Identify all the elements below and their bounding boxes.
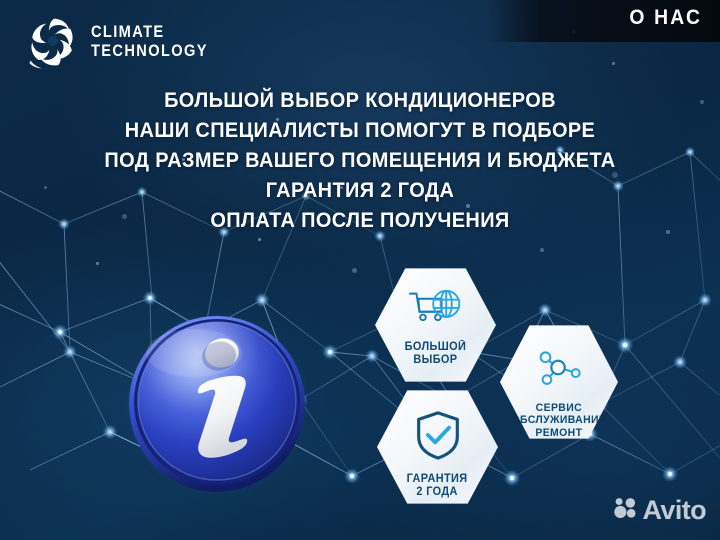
feature-caption-line2: ОБСЛУЖИВАНИЕ — [512, 414, 607, 426]
feature-caption: ГАРАНТИЯ 2 ГОДА — [407, 473, 468, 499]
about-us-promo-slide: CLIMATE TECHNOLOGY О НАС БОЛЬШОЙ ВЫБОР К… — [0, 0, 720, 540]
claim-line: ПОД РАЗМЕР ВАШЕГО ПОМЕЩЕНИЯ И БЮДЖЕТА — [18, 146, 702, 176]
section-title: О НАС — [629, 6, 702, 30]
claim-line: ГАРАНТИЯ 2 ГОДА — [18, 176, 702, 206]
claim-line: ОПЛАТА ПОСЛЕ ПОЛУЧЕНИЯ — [18, 206, 702, 236]
info-circle-icon — [124, 309, 310, 495]
brand-name-line1: CLIMATE — [91, 23, 208, 40]
brand-wordmark: CLIMATE TECHNOLOGY — [91, 23, 227, 59]
brand-name-line2: TECHNOLOGY — [91, 42, 208, 59]
shield-check-icon — [415, 410, 461, 465]
feature-caption-line1: СЕРВИС — [536, 402, 582, 414]
cart-globe-icon — [407, 288, 465, 334]
feature-caption-line2: ВЫБОР — [413, 354, 457, 366]
brand-logo[interactable]: CLIMATE TECHNOLOGY — [26, 12, 227, 70]
claim-line: БОЛЬШОЙ ВЫБОР КОНДИЦИОНЕРОВ — [18, 86, 702, 116]
network-background — [0, 0, 720, 540]
header-bar: CLIMATE TECHNOLOGY О НАС — [0, 0, 720, 44]
fan-spiral-icon — [26, 12, 82, 70]
avito-watermark: Avito — [613, 495, 707, 526]
claims-block: БОЛЬШОЙ ВЫБОР КОНДИЦИОНЕРОВ НАШИ СПЕЦИАЛ… — [0, 86, 720, 236]
feature-caption-line3: РЕМОНТ — [535, 427, 582, 439]
feature-caption: БОЛЬШОЙ ВЫБОР — [405, 341, 467, 367]
feature-caption-line1: БОЛЬШОЙ — [405, 341, 467, 353]
feature-caption-line2: 2 ГОДА — [417, 486, 458, 498]
claim-line: НАШИ СПЕЦИАЛИСТЫ ПОМОГУТ В ПОДБОРЕ — [18, 116, 702, 146]
feature-caption-line1: ГАРАНТИЯ — [407, 473, 468, 485]
avito-wordmark: Avito — [643, 495, 707, 526]
section-title-band: О НАС — [488, 0, 720, 42]
avito-dots-icon — [613, 497, 639, 525]
network-node-icon — [532, 347, 586, 393]
